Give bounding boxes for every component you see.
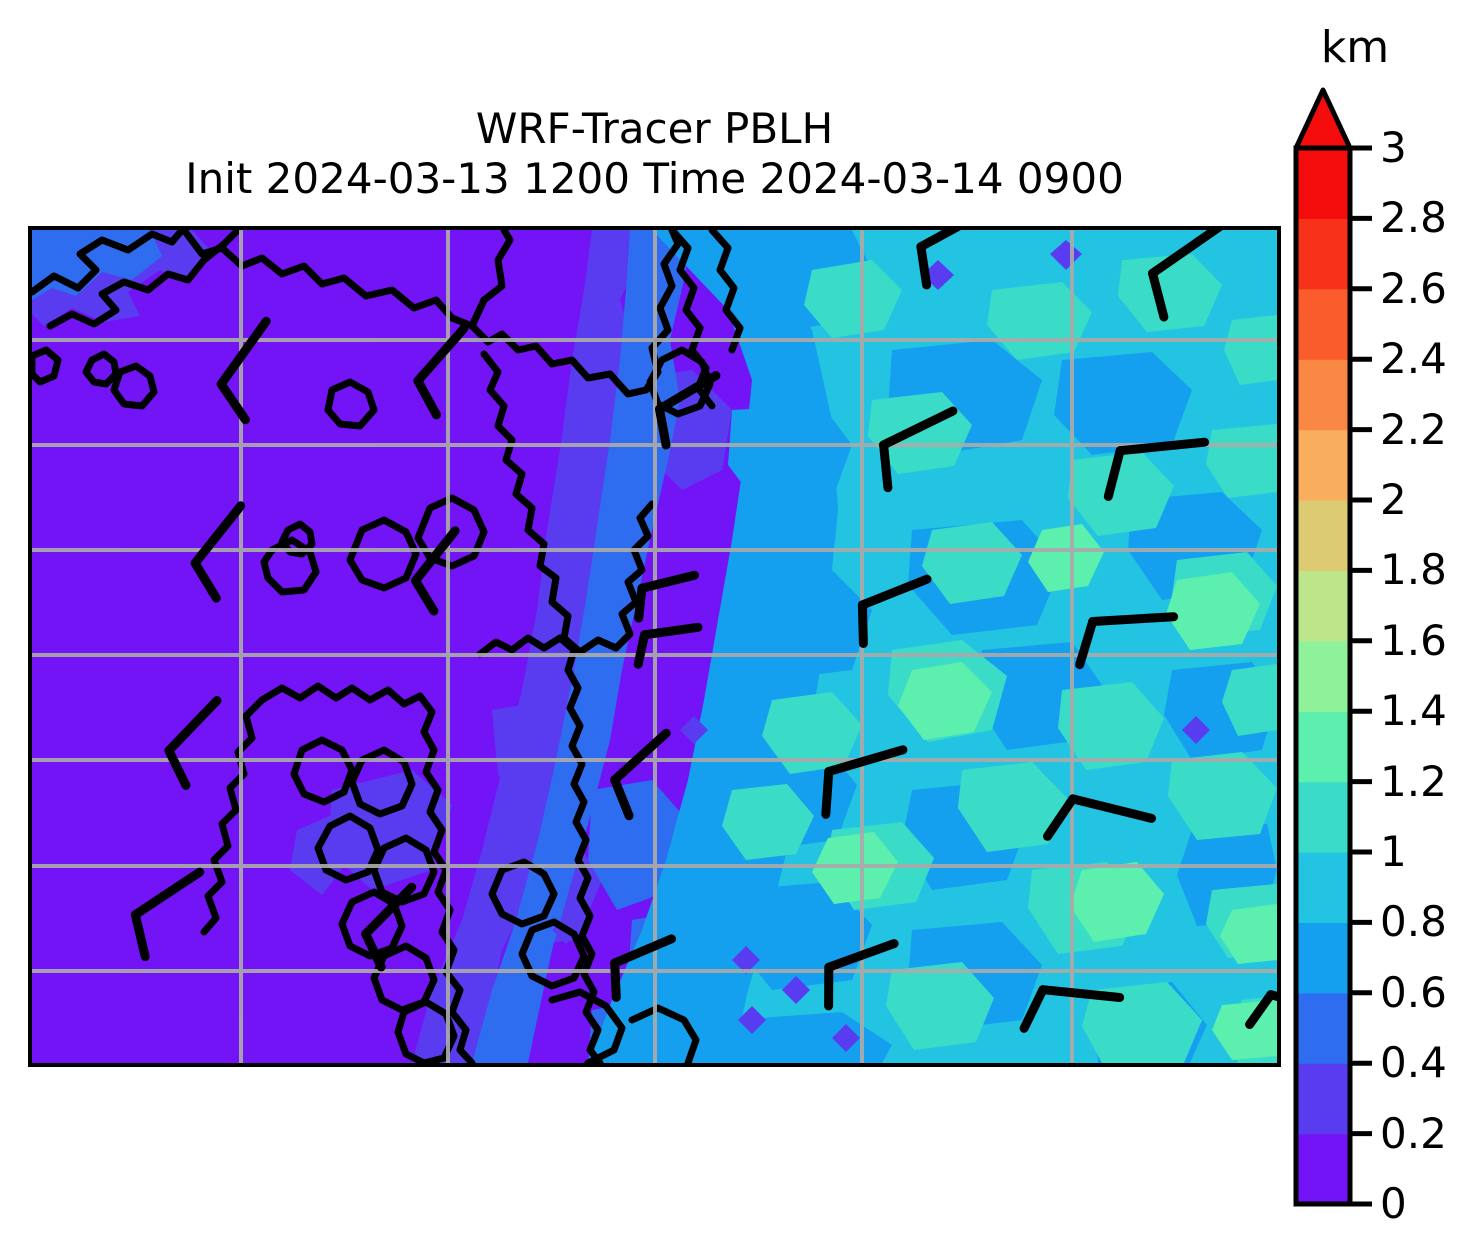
colorbar-extend-arrow xyxy=(1296,90,1350,148)
colorbar-tick-label: 1.8 xyxy=(1380,549,1447,591)
colorbar-band xyxy=(1296,218,1350,289)
colorbar-tick-label: 2.8 xyxy=(1380,197,1447,239)
colorbar-tick-label: 0.4 xyxy=(1380,1042,1447,1084)
chart-title: WRF-Tracer PBLH Init 2024-03-13 1200 Tim… xyxy=(28,104,1281,203)
colorbar-tick-label: 2.4 xyxy=(1380,338,1447,380)
colorbar-band xyxy=(1296,1063,1350,1134)
wind-barb-flag xyxy=(639,588,642,618)
wind-barb-flag xyxy=(921,247,927,285)
chart-title-line-2: Init 2024-03-13 1200 Time 2024-03-14 090… xyxy=(28,154,1281,204)
colorbar-tick-label: 0.2 xyxy=(1380,1113,1447,1155)
chart-title-line-1: WRF-Tracer PBLH xyxy=(28,104,1281,154)
wind-barb-flag xyxy=(862,605,863,644)
pblh-contour-map xyxy=(32,230,1277,1063)
colorbar-band xyxy=(1296,852,1350,923)
colorbar-band xyxy=(1296,922,1350,993)
colorbar-band xyxy=(1296,148,1350,219)
colorbar-band xyxy=(1296,641,1350,712)
colorbar-tick-label: 1 xyxy=(1380,831,1407,873)
colorbar-band xyxy=(1296,289,1350,360)
colorbar-tick-label: 1.6 xyxy=(1380,620,1447,662)
colorbar-band xyxy=(1296,500,1350,571)
colorbar-tick-label: 0.8 xyxy=(1380,901,1447,943)
wind-barb-shaft xyxy=(1093,617,1174,622)
map-canvas xyxy=(32,230,1277,1063)
colorbar-svg xyxy=(1296,88,1350,1206)
colorbar-tick-label: 2.6 xyxy=(1380,268,1447,310)
colorbar-band xyxy=(1296,993,1350,1064)
colorbar-tick-label: 2 xyxy=(1380,479,1407,521)
wind-barb-flag xyxy=(826,772,829,815)
wind-barb-flag xyxy=(884,445,888,488)
colorbar-band xyxy=(1296,359,1350,430)
colorbar-band xyxy=(1296,1134,1350,1205)
colorbar-tick-label: 3 xyxy=(1380,127,1407,169)
colorbar-tick-label: 2.2 xyxy=(1380,409,1447,451)
colorbar-tick-label: 1.2 xyxy=(1380,761,1447,803)
colorbar-unit-label: km xyxy=(1300,22,1410,73)
colorbar-band xyxy=(1296,430,1350,501)
colorbar-bands xyxy=(1296,148,1350,1205)
colorbar-tick-label: 0.6 xyxy=(1380,972,1447,1014)
colorbar-band xyxy=(1296,711,1350,782)
colorbar-ticks xyxy=(1350,148,1372,1204)
colorbar-tick-labels: 32.82.62.42.221.81.61.41.210.80.60.40.20 xyxy=(1380,88,1472,1206)
colorbar-tick-label: 0 xyxy=(1380,1183,1407,1225)
colorbar-band xyxy=(1296,570,1350,641)
colorbar-band xyxy=(1296,782,1350,853)
wind-barb-flag xyxy=(615,963,617,997)
colorbar-tick-label: 1.4 xyxy=(1380,690,1447,732)
colorbar[interactable] xyxy=(1296,88,1350,1206)
wind-barb-flag xyxy=(638,635,644,664)
map-plot-area xyxy=(28,226,1281,1067)
